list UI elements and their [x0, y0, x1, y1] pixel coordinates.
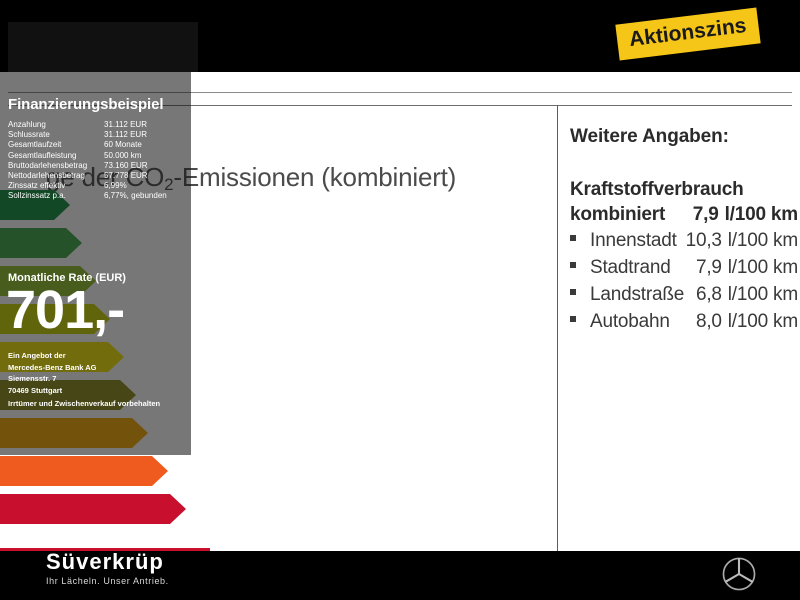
dealer-logo: Süverkrüp Ihr Lächeln. Unser Antrieb. [46, 549, 169, 586]
fuel-item-stadtrand: Stadtrand 7,9 l/100 km [570, 254, 798, 281]
further-details-column: Weitere Angaben: Kraftstoffverbrauch kom… [570, 126, 800, 335]
column-divider [557, 105, 558, 551]
disclaimer-text: Irrtümer und Zwischenverkauf vorbehalten [8, 399, 160, 408]
fuel-item-autobahn: Autobahn 8,0 l/100 km [570, 308, 798, 335]
address-line: Mercedes-Benz Bank AG [8, 362, 97, 374]
table-row: Bruttodarlehensbetrag 73.160 EUR [8, 161, 188, 171]
fuel-item-label: Innenstadt [590, 227, 677, 254]
fuel-item-value: 6,8 [696, 281, 722, 308]
row-key: Sollzinssatz p.a. [8, 191, 104, 201]
table-row: Zinssatz effektiv 6,99% [8, 181, 188, 191]
energy-bar-tip [170, 494, 186, 524]
fuel-item-value: 10,3 [686, 227, 722, 254]
square-bullet-icon [570, 316, 576, 322]
row-value: 6,77%, gebunden [104, 191, 188, 201]
further-details-title: Weitere Angaben: [570, 126, 800, 148]
address-line: 70469 Stuttgart [8, 385, 97, 397]
square-bullet-icon [570, 262, 576, 268]
row-key: Nettodarlehensbetrag [8, 171, 104, 181]
row-value: 31.112 EUR [104, 130, 188, 140]
row-value: 73.160 EUR [104, 161, 188, 171]
dealer-tagline: Ihr Lächeln. Unser Antrieb. [46, 576, 169, 586]
row-key: Gesamtlaufzeit [8, 140, 104, 150]
table-row: Sollzinssatz p.a. 6,77%, gebunden [8, 191, 188, 201]
fuel-combined-label: kombiniert [570, 202, 665, 227]
square-bullet-icon [570, 235, 576, 241]
energy-bar-body [0, 456, 152, 486]
fuel-item-value: 7,9 [696, 254, 722, 281]
row-key: Zinssatz effektiv [8, 181, 104, 191]
fuel-item-unit: l/100 km [728, 308, 798, 335]
table-row: Schlussrate 31.112 EUR [8, 130, 188, 140]
row-value: 6,99% [104, 181, 188, 191]
fuel-item-label: Landstraße [590, 281, 684, 308]
row-key: Schlussrate [8, 130, 104, 140]
fuel-item-unit: l/100 km [728, 254, 798, 281]
energy-bar-tip [152, 456, 168, 486]
fuel-item-label: Stadtrand [590, 254, 671, 281]
square-bullet-icon [570, 289, 576, 295]
address-line: Siemensstr. 7 [8, 373, 97, 385]
energy-bar [0, 494, 200, 524]
financing-details-table: Anzahlung 31.112 EUR Schlussrate 31.112 … [8, 120, 188, 202]
table-row: Gesamtlaufzeit 60 Monate [8, 140, 188, 150]
monthly-rate-value: 701,- [6, 282, 124, 338]
top-dark-box [8, 22, 198, 72]
energy-bar [0, 456, 200, 486]
row-value: 31.112 EUR [104, 120, 188, 130]
page-title-suffix: -Emissionen (kombiniert) [173, 162, 456, 192]
table-row: Gesamtlaufleistung 50.000 km [8, 151, 188, 161]
fuel-item-unit: l/100 km [728, 281, 798, 308]
row-key: Anzahlung [8, 120, 104, 130]
financing-overlay-panel: Finanzierungsbeispiel Anzahlung 31.112 E… [0, 20, 191, 455]
fuel-combined-unit: l/100 km [725, 202, 798, 227]
table-row: Anzahlung 31.112 EUR [8, 120, 188, 130]
row-value: 50.000 km [104, 151, 188, 161]
fuel-item-innenstadt: Innenstadt 10,3 l/100 km [570, 227, 798, 254]
energy-bar-body [0, 494, 170, 524]
dealer-name: Süverkrüp [46, 549, 169, 575]
mercedes-star-icon [718, 553, 760, 595]
fuel-combined-value: 7,9 [693, 202, 719, 227]
fuel-item-value: 8,0 [696, 308, 722, 335]
fuel-consumption-title: Kraftstoffverbrauch [570, 178, 800, 202]
fuel-combined-row: kombiniert 7,9 l/100 km [570, 202, 798, 227]
bank-address: Ein Angebot der Mercedes-Benz Bank AG Si… [8, 350, 97, 396]
row-key: Gesamtlaufleistung [8, 151, 104, 161]
address-line: Ein Angebot der [8, 350, 97, 362]
row-key: Bruttodarlehensbetrag [8, 161, 104, 171]
fuel-item-label: Autobahn [590, 308, 670, 335]
table-row: Nettodarlehensbetrag 57.778 EUR [8, 171, 188, 181]
row-value: 57.778 EUR [104, 171, 188, 181]
fuel-consumption-block: Kraftstoffverbrauch kombiniert 7,9 l/100… [570, 178, 800, 335]
screenshot-root: ge der CO2-Emissionen (kombiniert) Weite… [0, 0, 800, 600]
row-value: 60 Monate [104, 140, 188, 150]
fuel-item-landstrasse: Landstraße 6,8 l/100 km [570, 281, 798, 308]
fuel-item-unit: l/100 km [728, 227, 798, 254]
financing-panel-title: Finanzierungsbeispiel [0, 92, 191, 118]
